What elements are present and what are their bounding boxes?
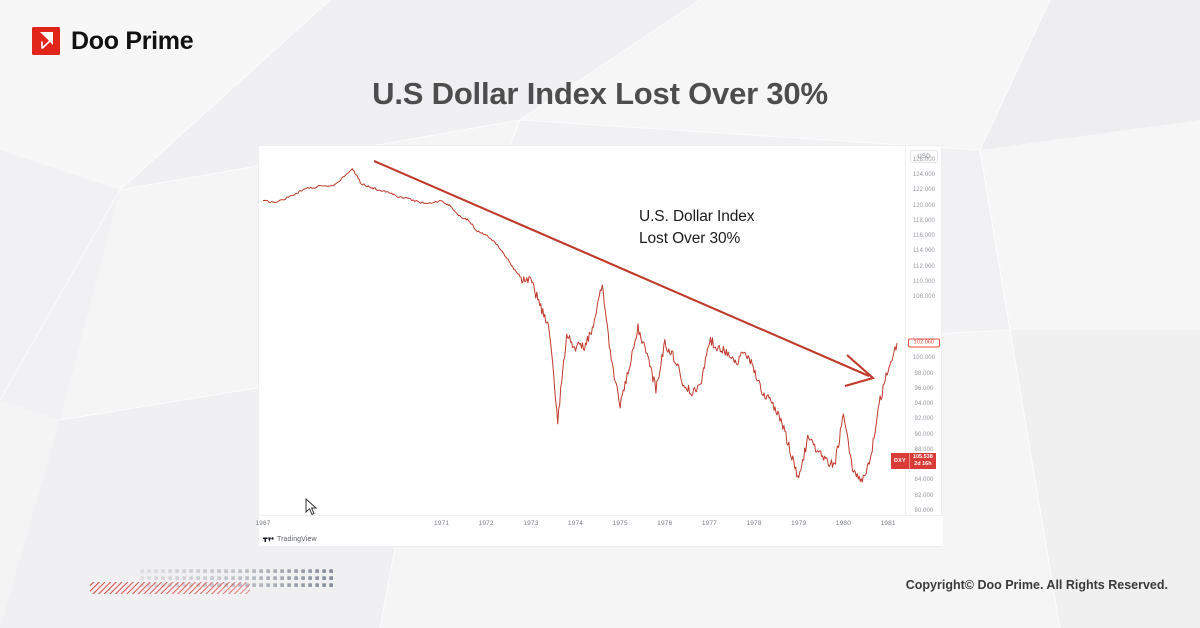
price-tick: 120.000 <box>906 203 942 209</box>
time-tick: 1971 <box>434 520 449 527</box>
tradingview-logo-icon <box>263 535 274 543</box>
symbol-countdown: 2d 16h <box>914 461 931 468</box>
brand-name: Doo Prime <box>71 29 193 54</box>
price-tick: 112.000 <box>906 264 942 270</box>
price-tick: 124.000 <box>906 172 942 178</box>
price-tick: 110.000 <box>906 279 942 285</box>
price-tick: 114.000 <box>906 248 942 254</box>
time-tick: 1981 <box>880 520 895 527</box>
price-tick: 118.000 <box>906 218 942 224</box>
time-tick: 1977 <box>702 520 717 527</box>
time-tick: 1973 <box>523 520 538 527</box>
time-tick: 1974 <box>568 520 583 527</box>
price-tick: 92.000 <box>906 416 942 422</box>
price-tick: 80.000 <box>906 508 942 514</box>
price-tick: 108.000 <box>906 294 942 300</box>
price-tick: 82.000 <box>906 493 942 499</box>
price-tick: 90.000 <box>906 432 942 438</box>
time-axis[interactable]: TradingView 1967197119721973197419751976… <box>259 515 943 546</box>
time-tick: 1980 <box>836 520 851 527</box>
price-tick: 126.000 <box>906 157 942 163</box>
symbol-countdown-badge[interactable]: DXY 105.538 2d 16h <box>891 453 936 469</box>
price-tick: 100.000 <box>906 355 942 361</box>
symbol-last-price: 105.538 <box>913 454 933 461</box>
symbol-ticker: DXY <box>891 453 909 469</box>
page-title: U.S Dollar Index Lost Over 30% <box>0 76 1200 112</box>
doo-prime-logo-icon <box>32 27 60 55</box>
price-line-series <box>259 146 907 517</box>
brand-logo: Doo Prime <box>32 27 193 55</box>
price-tick: 98.000 <box>906 371 942 377</box>
chart-annotation-text: U.S. Dollar Index Lost Over 30% <box>639 206 754 251</box>
mouse-pointer-icon <box>303 498 319 516</box>
tradingview-label: TradingView <box>277 536 317 543</box>
footer-decoration <box>90 568 335 603</box>
price-tick: 122.000 <box>906 187 942 193</box>
time-tick: 1979 <box>791 520 806 527</box>
price-tick: 116.000 <box>906 233 942 239</box>
symbol-values: 105.538 2d 16h <box>909 453 936 469</box>
footer-copyright: Copyright© Doo Prime. All Rights Reserve… <box>906 578 1168 592</box>
price-tick: 96.000 <box>906 386 942 392</box>
chart-plot-area[interactable] <box>259 146 907 517</box>
tradingview-chart-panel[interactable]: U.S. Dollar Index Lost Over 30% USD 102.… <box>258 145 942 547</box>
price-tick: 84.000 <box>906 477 942 483</box>
time-tick: 1967 <box>255 520 270 527</box>
time-tick: 1976 <box>657 520 672 527</box>
last-price-tag: 102.060 <box>908 338 940 347</box>
time-tick: 1978 <box>746 520 761 527</box>
time-tick: 1975 <box>613 520 628 527</box>
tradingview-watermark[interactable]: TradingView <box>263 535 317 543</box>
price-tick: 94.000 <box>906 401 942 407</box>
time-tick: 1972 <box>479 520 494 527</box>
